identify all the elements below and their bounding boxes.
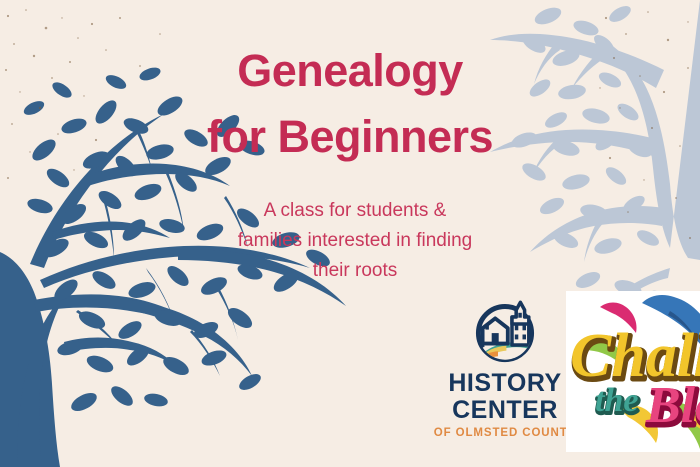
subtitle-line-3: their roots: [175, 256, 535, 286]
subtitle-line-2: families interested in finding: [175, 226, 535, 256]
svg-text:the: the: [595, 382, 638, 419]
title-line-1: Genealogy: [0, 38, 700, 104]
history-center-tagline: OF OLMSTED COUNTY: [432, 427, 578, 439]
chalk-the-block-logo: Chalk Chalk the the Block Block: [566, 291, 700, 452]
subtitle: A class for students & families interest…: [175, 196, 535, 286]
history-center-word-history: HISTORY: [432, 370, 578, 397]
history-center-logo: HISTORY CENTER OF OLMSTED COUNTY: [432, 296, 578, 458]
chalk-the-block-logo-icon: Chalk Chalk the the Block Block: [566, 291, 700, 452]
title-line-2: for Beginners: [0, 104, 700, 170]
svg-text:Block: Block: [645, 377, 700, 434]
history-center-word-center: CENTER: [432, 397, 578, 424]
genealogy-flyer: Genealogy for Beginners A class for stud…: [0, 0, 700, 467]
page-title: Genealogy for Beginners: [0, 38, 700, 170]
house-and-tower-badge-icon: [470, 296, 540, 366]
subtitle-line-1: A class for students &: [175, 196, 535, 226]
